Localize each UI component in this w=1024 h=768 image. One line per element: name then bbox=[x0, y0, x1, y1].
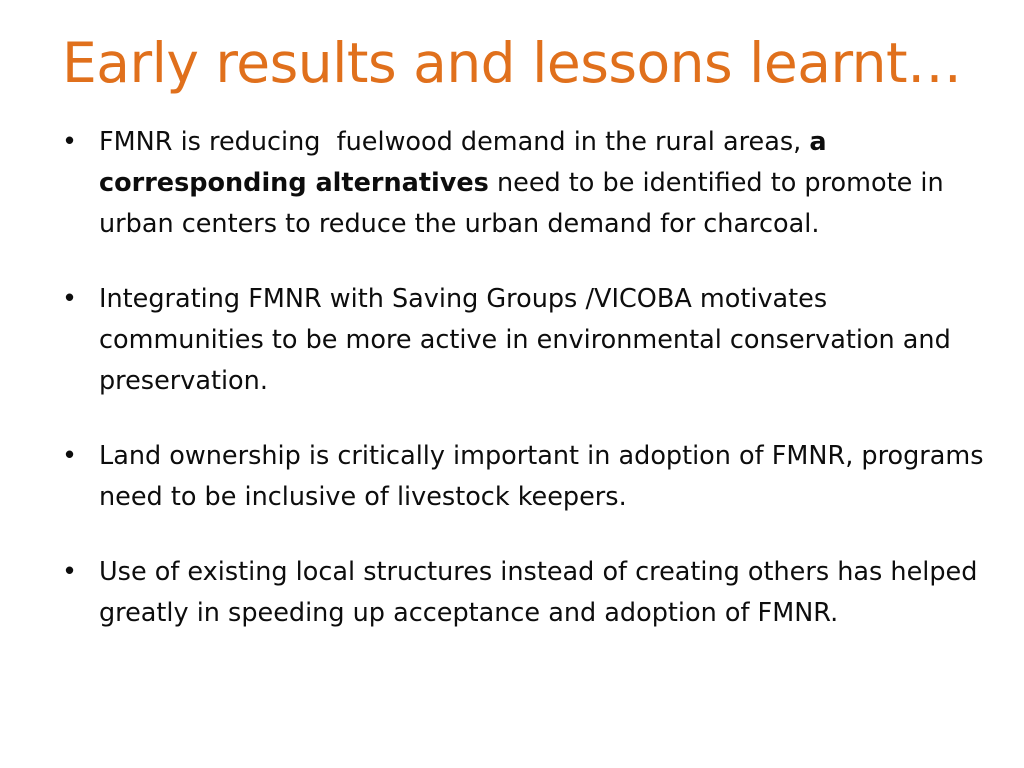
page-title: Early results and lessons learnt… bbox=[62, 30, 982, 96]
bullet-point-icon: • bbox=[62, 552, 84, 593]
bullet-item-fuelwood-demand: •FMNR is reducing fuelwood demand in the… bbox=[56, 122, 996, 245]
bullet-item-label: Integrating FMNR with Saving Groups /VIC… bbox=[99, 284, 959, 396]
bullet-item-label: Use of existing local structures instead… bbox=[99, 557, 986, 628]
bullet-point-icon: • bbox=[62, 436, 84, 477]
bullet-item-label: FMNR is reducing fuelwood demand in the … bbox=[99, 127, 952, 239]
bullet-point-icon: • bbox=[62, 279, 84, 320]
bullet-list: •FMNR is reducing fuelwood demand in the… bbox=[56, 122, 996, 634]
bullet-point-icon: • bbox=[62, 122, 84, 163]
bullet-item-saving-groups-vicoba: •Integrating FMNR with Saving Groups /VI… bbox=[56, 279, 996, 402]
bullet-item-label: Land ownership is critically important i… bbox=[99, 441, 992, 512]
bullet-text-run: Integrating FMNR with Saving Groups /VIC… bbox=[99, 284, 959, 396]
bullet-text-run: FMNR is reducing fuelwood demand in the … bbox=[99, 127, 809, 157]
bullet-text-run: Land ownership is critically important i… bbox=[99, 441, 992, 512]
slide-canvas: Early results and lessons learnt… •FMNR … bbox=[0, 0, 1024, 768]
bullet-text-run: Use of existing local structures instead… bbox=[99, 557, 986, 628]
bullet-item-existing-local-structures: •Use of existing local structures instea… bbox=[56, 552, 996, 634]
bullet-item-land-ownership: •Land ownership is critically important … bbox=[56, 436, 996, 518]
